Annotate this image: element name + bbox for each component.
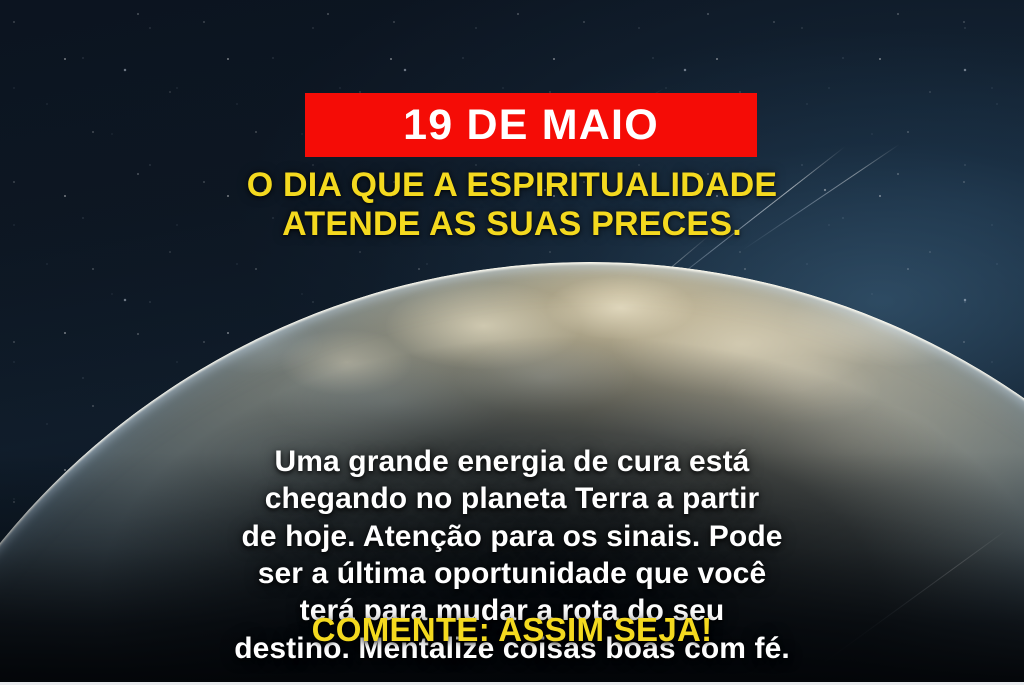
- call-to-action-text: COMENTE: ASSIM SEJA!: [0, 612, 1024, 648]
- date-banner-label: 19 DE MAIO: [403, 104, 659, 147]
- headline-line-1: O DIA QUE A ESPIRITUALIDADE: [0, 166, 1024, 205]
- body-line-4: ser a última oportunidade que você: [40, 555, 984, 592]
- headline-line-2: ATENDE AS SUAS PRECES.: [0, 205, 1024, 244]
- body-line-1: Uma grande energia de cura está: [40, 443, 984, 480]
- body-line-3: de hoje. Atenção para os sinais. Pode: [40, 518, 984, 555]
- date-banner: 19 DE MAIO: [305, 93, 757, 157]
- call-to-action-label: COMENTE: ASSIM SEJA!: [312, 611, 713, 648]
- body-line-2: chegando no planeta Terra a partir: [40, 480, 984, 517]
- poster-canvas: 19 DE MAIO O DIA QUE A ESPIRITUALIDADE A…: [0, 0, 1024, 685]
- headline: O DIA QUE A ESPIRITUALIDADE ATENDE AS SU…: [0, 166, 1024, 245]
